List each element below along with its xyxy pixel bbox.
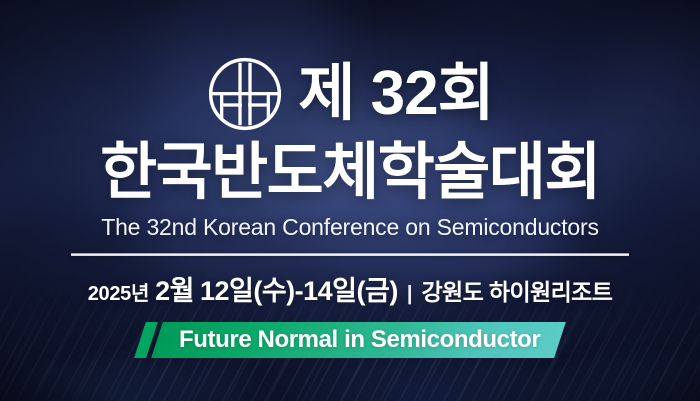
slogan-text: Future Normal in Semiconductor bbox=[179, 328, 540, 352]
divider-line bbox=[71, 253, 629, 256]
kcs-circle-emblem-icon bbox=[206, 55, 284, 133]
slogan-bar: Future Normal in Semiconductor bbox=[151, 322, 566, 358]
poster-content: 제 32회 한국반도체학술대회 The 32nd Korean Conferen… bbox=[0, 0, 700, 401]
venue-label: 강원도 하이원리조트 bbox=[421, 273, 612, 307]
date-month: 2월 bbox=[155, 269, 194, 308]
date-venue-row: 2025년 2월 12일(수)-14일(금) | 강원도 하이원리조트 bbox=[88, 269, 613, 308]
date-year: 2025년 bbox=[88, 277, 149, 306]
english-title: The 32nd Korean Conference on Semiconduc… bbox=[101, 216, 599, 239]
date-days: 12일(수)-14일(금) bbox=[200, 269, 398, 308]
slogan-banner: Future Normal in Semiconductor bbox=[140, 322, 560, 358]
korean-title: 한국반도체학술대회 bbox=[100, 140, 600, 207]
edition-row: 제 32회 bbox=[206, 52, 493, 136]
conference-poster: 제 32회 한국반도체학술대회 The 32nd Korean Conferen… bbox=[0, 0, 700, 401]
edition-label: 제 32회 bbox=[298, 63, 493, 125]
date-venue-separator: | bbox=[407, 283, 413, 306]
